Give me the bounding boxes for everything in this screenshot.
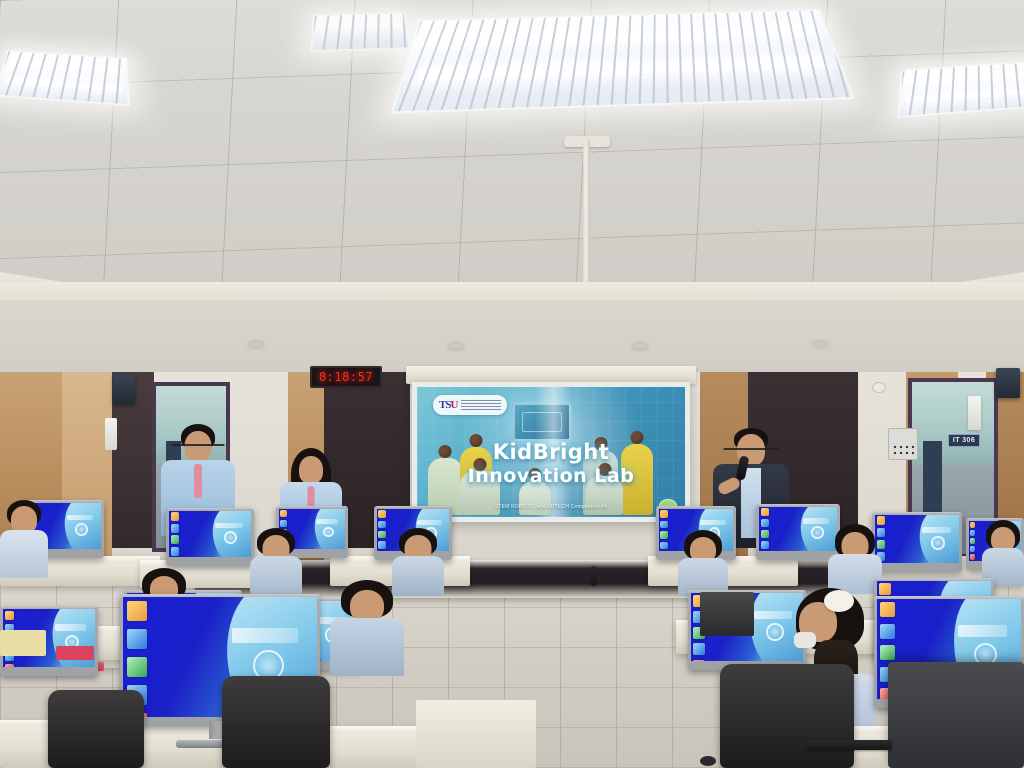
office-chair-left-2[interactable] bbox=[48, 690, 144, 768]
recessed-downlight-2 bbox=[448, 344, 464, 349]
room-number-sign: IT 306 bbox=[948, 434, 980, 447]
wall-control-panel[interactable] bbox=[888, 428, 918, 460]
office-chair-left[interactable] bbox=[222, 676, 330, 768]
desktop-monitor[interactable] bbox=[0, 606, 98, 676]
student-4 bbox=[678, 530, 728, 592]
tsu-logo-mark: TSU bbox=[439, 399, 457, 411]
student-6 bbox=[982, 520, 1024, 582]
student-2 bbox=[250, 528, 302, 590]
recessed-downlight-3 bbox=[632, 344, 648, 349]
office-chair-foreground[interactable] bbox=[720, 664, 854, 768]
projection-screen: TSU KidBright Innovation Lab STEM ROBOTI… bbox=[412, 382, 690, 522]
ceiling-soffit-face bbox=[0, 300, 1024, 376]
microphone-stand-icon bbox=[590, 566, 597, 586]
digital-wall-clock: 8:18:57 bbox=[310, 366, 382, 388]
tsu-logo-text-lines bbox=[461, 400, 501, 410]
lecture-room-photo: IT 306 8:18:57 TSU bbox=[0, 0, 1024, 768]
desktop-monitor[interactable] bbox=[872, 512, 962, 572]
ceiling-light-fixture-left bbox=[0, 50, 130, 106]
desktop-monitor[interactable] bbox=[166, 508, 254, 566]
projector-mount-pole bbox=[583, 140, 590, 300]
wall-speaker-right bbox=[996, 368, 1020, 398]
control-panel-buttons[interactable] bbox=[892, 444, 916, 456]
tsu-logo: TSU bbox=[433, 395, 507, 415]
slide-subtitle: STEM ROBOTIC and EDTECH Competition #4 bbox=[417, 504, 685, 510]
desktop-monitor-foreground-right[interactable] bbox=[874, 596, 1024, 708]
clock-digits: 8:18:57 bbox=[319, 370, 373, 384]
student-7 bbox=[330, 580, 404, 672]
recessed-downlight-4 bbox=[812, 342, 828, 347]
recessed-downlight-1 bbox=[248, 342, 264, 347]
mouse[interactable] bbox=[700, 756, 716, 766]
tablet-device bbox=[700, 592, 754, 636]
ceiling-light-fixture-right bbox=[897, 60, 1024, 118]
wall-light-fixture-left bbox=[105, 418, 117, 450]
slide-title: KidBright Innovation Lab bbox=[417, 439, 685, 489]
slide-title-line2: Innovation Lab bbox=[417, 465, 685, 489]
ceiling bbox=[0, 0, 1024, 300]
student-1 bbox=[0, 500, 48, 576]
wall-light-fixture-right bbox=[968, 396, 981, 430]
smoke-detector-icon bbox=[872, 382, 886, 393]
wall-speaker-left bbox=[113, 374, 135, 404]
ceiling-light-fixture-main bbox=[391, 9, 855, 113]
presentation-slide: TSU KidBright Innovation Lab STEM ROBOTI… bbox=[417, 387, 685, 517]
keyboard[interactable] bbox=[806, 740, 892, 750]
slide-title-line1: KidBright bbox=[417, 439, 685, 465]
ceiling-light-fixture-far bbox=[310, 12, 410, 52]
